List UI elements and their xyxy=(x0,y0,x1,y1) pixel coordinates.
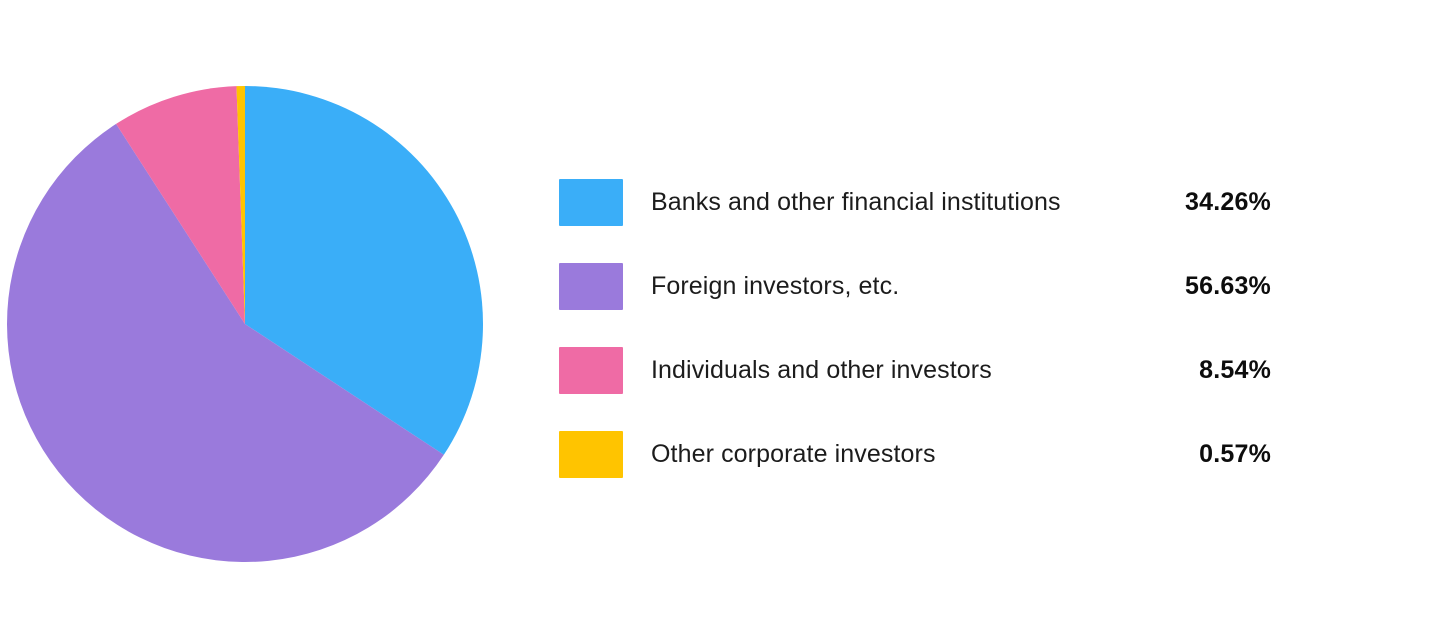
pie-chart-figure: Banks and other financial institutions 3… xyxy=(0,0,1447,627)
legend-value-banks: 34.26% xyxy=(1141,188,1271,217)
legend-swatch-foreign xyxy=(559,263,623,310)
pie-svg xyxy=(7,86,483,562)
legend-label-foreign: Foreign investors, etc. xyxy=(651,272,1141,301)
pie-chart-graphic xyxy=(7,86,483,562)
legend-label-other-corporate: Other corporate investors xyxy=(651,440,1141,469)
legend-label-individuals: Individuals and other investors xyxy=(651,356,1141,385)
legend-item-banks[interactable]: Banks and other financial institutions 3… xyxy=(559,179,1271,226)
legend-item-foreign[interactable]: Foreign investors, etc. 56.63% xyxy=(559,263,1271,310)
legend-value-other-corporate: 0.57% xyxy=(1141,440,1271,469)
legend-swatch-banks xyxy=(559,179,623,226)
legend-item-individuals[interactable]: Individuals and other investors 8.54% xyxy=(559,347,1271,394)
chart-legend: Banks and other financial institutions 3… xyxy=(559,179,1271,478)
legend-value-individuals: 8.54% xyxy=(1141,356,1271,385)
legend-swatch-other-corporate xyxy=(559,431,623,478)
legend-label-banks: Banks and other financial institutions xyxy=(651,188,1141,217)
pie-slice-group xyxy=(7,86,483,562)
legend-swatch-individuals xyxy=(559,347,623,394)
legend-item-other-corporate[interactable]: Other corporate investors 0.57% xyxy=(559,431,1271,478)
legend-value-foreign: 56.63% xyxy=(1141,272,1271,301)
